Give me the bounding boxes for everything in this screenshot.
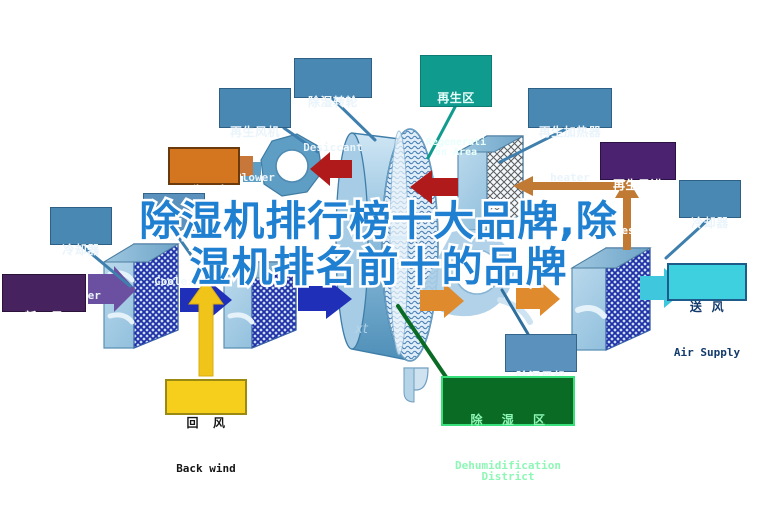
overlay-title-line2: 湿机排名前十的品牌 (0, 244, 757, 290)
label-desiccant-wheel: 除湿转轮 Desiccant (294, 58, 372, 98)
label-dehumidification-blower: 除湿风机 Blower (505, 334, 577, 372)
label-cn: 除湿转轮 (295, 96, 371, 109)
label-cn: 再生风进 (601, 179, 675, 192)
label-cn: 再生区 (421, 92, 491, 105)
label-cn: 回 风 (167, 417, 245, 430)
label-en: heater (529, 172, 611, 184)
label-en: Fresh Air (3, 357, 85, 369)
overlay-title: 除湿机排行榜十大品牌,除 湿机排名前十的品牌 (0, 198, 757, 290)
label-en: Back wind (167, 463, 245, 475)
label-exhaust: 再生风出 Exhaust (168, 147, 240, 185)
label-regeneration-area: 再生区 Regenerati on Area (420, 55, 492, 107)
label-cn: 新 风 (3, 311, 85, 324)
label-en: Air Supply (669, 347, 745, 359)
label-cn: 再生风机 (220, 126, 290, 139)
label-en: Desiccant (295, 142, 371, 154)
label-en: Regenerati on Area (421, 138, 491, 159)
dehumidifier-schematic-diagram: 除湿转轮 Desiccant 再生风机 Blower 再生区 Regenerat… (0, 0, 757, 488)
label-dehumidification-district: 除 湿 区 Dehumidification District (441, 376, 575, 426)
label-cn: 再生加热器 (529, 126, 611, 139)
label-cn: 除 湿 区 (443, 414, 573, 427)
label-regen-blower: 再生风机 Blower (219, 88, 291, 128)
label-en: Dehumidification District (443, 460, 573, 483)
label-regen-fresh-air: 再生风进 Fresh Air (600, 142, 676, 180)
condensate-drain (404, 368, 428, 402)
label-regen-heater: 再生加热器 heater (528, 88, 612, 128)
label-cn: 送 风 (669, 301, 745, 314)
watermark: xt (355, 322, 368, 337)
overlay-title-line1: 除湿机排行榜十大品牌,除 (139, 197, 618, 245)
label-back-wind: 回 风 Back wind (165, 379, 247, 415)
